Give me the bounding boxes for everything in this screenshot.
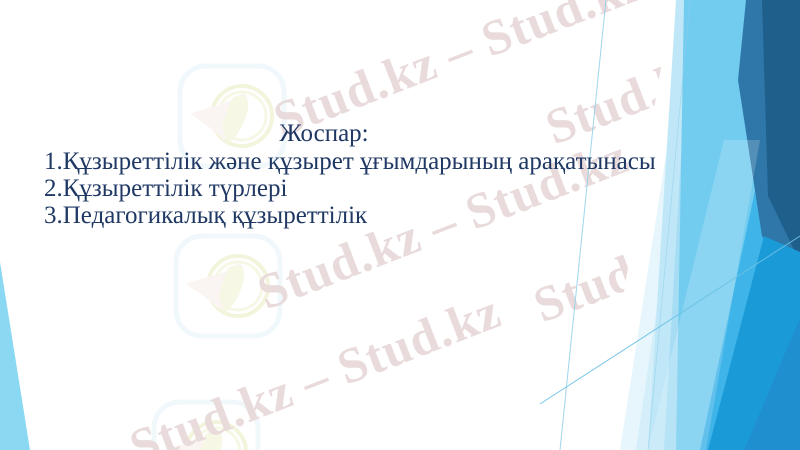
list-item: 2.Құзыреттілік түрлері: [44, 175, 684, 202]
page-title: Жоспар:: [44, 119, 604, 148]
list-item: 3.Педагогикалық құзыреттілік: [44, 202, 684, 229]
slide-body: Жоспар: 1.Құзыреттілік және құзырет ұғым…: [0, 0, 800, 450]
slide-canvas: Stud.kz – Stud.kz Stud.kz – Stud.kz Stud…: [0, 0, 800, 450]
list-item: 1.Құзыреттілік және құзырет ұғымдарының …: [44, 148, 684, 175]
plan-list: 1.Құзыреттілік және құзырет ұғымдарының …: [44, 148, 684, 229]
